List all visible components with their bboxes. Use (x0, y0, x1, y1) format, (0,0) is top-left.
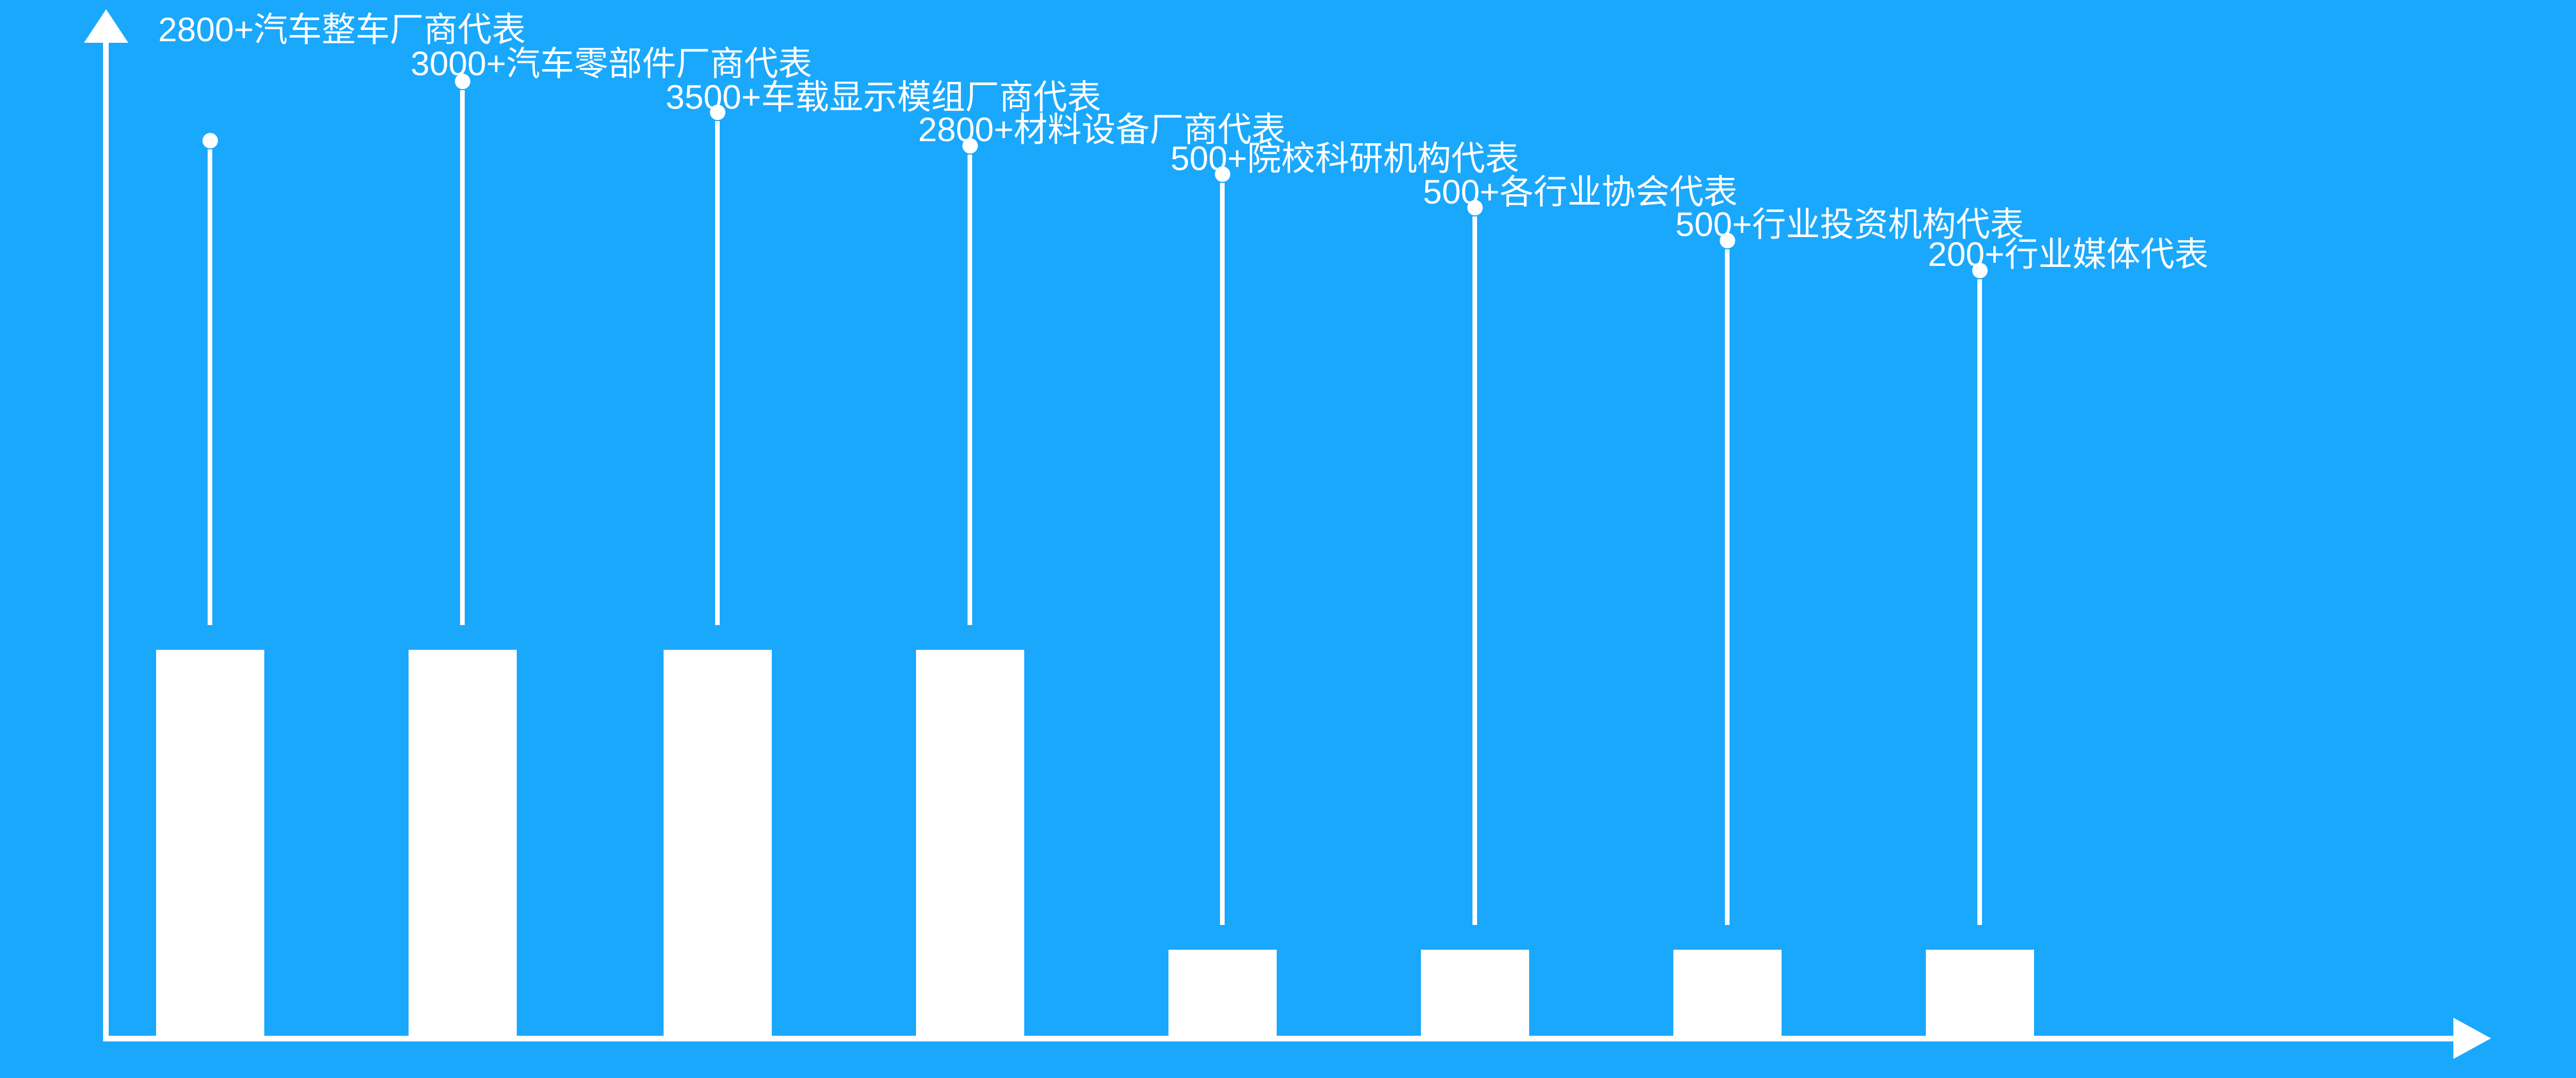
chart-canvas: 2800+汽车整车厂商代表3000+汽车零部件厂商代表3500+车载显示模组厂商… (0, 0, 2576, 1078)
bar (664, 650, 772, 1036)
bar-data-label: 2800+汽车整车厂商代表 (158, 12, 526, 46)
bar-data-label: 200+行业媒体代表 (1928, 237, 2209, 271)
bar (1673, 950, 1782, 1036)
y-axis-line (103, 39, 109, 1041)
bar-data-label: 3000+汽车零部件厂商代表 (411, 46, 812, 80)
bar (1926, 950, 2034, 1036)
bar (156, 650, 264, 1036)
bar (1421, 950, 1529, 1036)
y-axis-arrow-icon (84, 9, 128, 43)
bar-data-label: 500+各行业协会代表 (1423, 175, 1738, 209)
callout-stem (460, 90, 465, 625)
callout-stem (1977, 279, 1982, 925)
x-axis-arrow-icon (2453, 1018, 2491, 1059)
callout-stem (715, 121, 720, 625)
bar (409, 650, 517, 1036)
callout-stem (1472, 216, 1477, 925)
callout-dot-icon (202, 133, 218, 148)
bar (1168, 950, 1277, 1036)
bar (916, 650, 1024, 1036)
callout-stem (968, 155, 972, 625)
bar-data-label: 500+院校科研机构代表 (1171, 141, 1519, 175)
bar-data-label: 3500+车载显示模组厂商代表 (666, 80, 1101, 114)
x-axis-line (103, 1036, 2458, 1041)
callout-stem (1220, 183, 1225, 925)
callout-stem (208, 149, 212, 625)
callout-stem (1725, 249, 1730, 925)
